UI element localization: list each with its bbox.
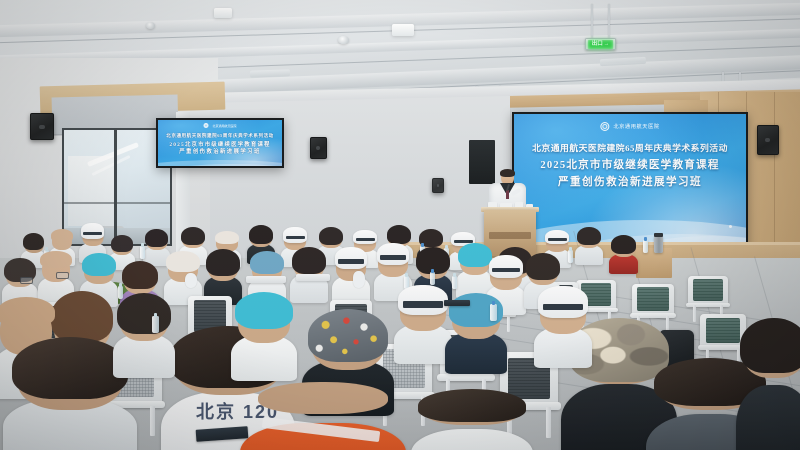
side-screen-logo-text: 北京通用航天医院 (212, 124, 236, 128)
main-screen-titles: 北京通用航天医院建院65周年庆典学术系列活动 2025北京市市级继续医学教育课程… (514, 142, 746, 190)
podium-name-plate (489, 232, 531, 239)
attendee (424, 396, 520, 450)
ceiling-light (214, 8, 232, 18)
wall-speaker-left (30, 113, 54, 140)
water-bottle (152, 316, 159, 333)
attendee (400, 294, 446, 360)
water-bottle (118, 286, 123, 299)
side-screen-logo: 北京通用航天医院 (203, 123, 236, 128)
row-desk (296, 274, 330, 281)
wall-speaker-small (432, 178, 444, 193)
ceiling-light (392, 24, 414, 36)
water-bottle (430, 272, 435, 285)
attendee (578, 230, 600, 263)
hanger-rod (608, 4, 610, 38)
main-screen-logo: 北京通用航天医院 (600, 122, 659, 131)
exit-sign-label: 出口 (592, 40, 603, 49)
presenter-hair (500, 169, 515, 177)
side-screen-title-3: 严重创伤救治新进展学习班 (158, 149, 282, 157)
main-screen-logo-text: 北京通用航天医院 (613, 123, 659, 130)
notebook (444, 300, 470, 306)
main-screen-title-2: 2025北京市市级继续医学教育课程 (514, 158, 746, 173)
exit-sign-box: 出口 → (585, 38, 616, 50)
thermos-flask (654, 236, 663, 253)
side-led-screen: 北京通用航天医院 北京通用航天医院建院65周年庆典学术系列活动 2025北京市市… (156, 118, 284, 168)
wall-speaker-right (757, 125, 779, 155)
attendee (18, 348, 122, 450)
hanger-rod (591, 4, 593, 38)
presenter-tie (506, 190, 509, 199)
attendee (238, 300, 290, 376)
attendee (146, 232, 167, 264)
smoke-detector-icon (338, 36, 349, 44)
window-mullion (64, 202, 170, 204)
wall-speaker-center (310, 137, 327, 159)
screen-sparkle (729, 225, 732, 228)
row-desk (246, 276, 286, 283)
attendee (120, 300, 168, 374)
side-screen-titles: 北京通用航天医院建院65周年庆典学术系列活动 2025北京市市级继续医学教育课程… (158, 133, 282, 157)
water-bottle (140, 246, 145, 259)
attendee (540, 296, 586, 364)
attendee (336, 254, 366, 302)
water-bottle (490, 304, 497, 321)
side-screen-title-1: 北京通用航天医院建院65周年庆典学术系列活动 (158, 133, 282, 140)
conference-room-photo: 出口 → 出口 → 出口 → (0, 0, 800, 450)
attendee (208, 254, 238, 302)
attendee (460, 248, 490, 296)
smoke-detector-icon (146, 22, 155, 29)
attendee (612, 238, 635, 272)
window-mullion (114, 130, 117, 244)
exit-arrow-icon: → (604, 40, 610, 49)
water-bottle (568, 250, 573, 263)
main-screen-title-1: 北京通用航天医院建院65周年庆典学术系列活动 (514, 142, 746, 154)
water-bottle (452, 276, 457, 289)
attendee (744, 330, 800, 450)
water-bottle (643, 240, 648, 253)
exit-sign-right: 出口 → (584, 34, 618, 68)
air-vent (250, 69, 290, 77)
main-screen-title-3: 严重创伤救治新进展学习班 (514, 175, 746, 190)
